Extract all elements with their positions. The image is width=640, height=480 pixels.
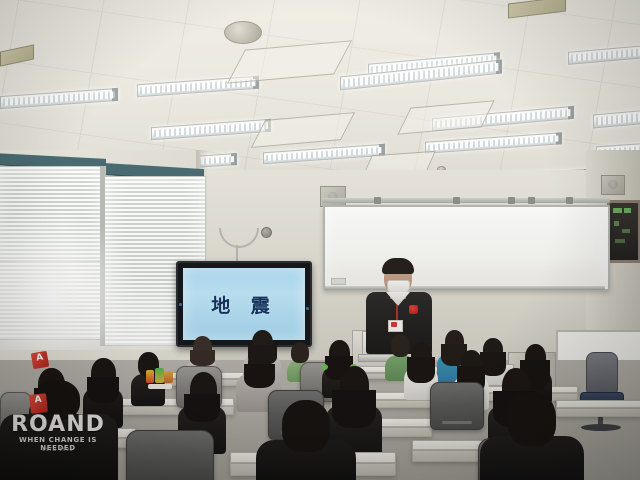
empty-chair-back[interactable] <box>586 352 618 394</box>
hoodie-subline-text: ESTD 1995 <box>14 447 102 452</box>
student <box>256 400 356 480</box>
lanyard <box>396 305 398 321</box>
wall-speaker-icon <box>320 186 346 207</box>
hoodie-badge-text: A <box>29 393 47 406</box>
chair[interactable] <box>126 430 214 480</box>
hoodie-brand-text: ROAND <box>6 412 110 437</box>
face-mask-icon <box>387 280 410 294</box>
wall-sensor-icon <box>261 227 272 238</box>
chest-badge-icon <box>409 305 418 314</box>
whiteboard-label <box>331 278 346 285</box>
window-mullion <box>100 166 105 346</box>
shirt-graphic-print <box>146 368 174 390</box>
slide-title-text: 地 震 <box>211 291 277 318</box>
wall-hook-stem <box>236 245 238 262</box>
paper-badge: A <box>31 351 50 370</box>
hoodie-badge: A <box>29 393 48 414</box>
chair[interactable] <box>430 382 484 430</box>
wall-speaker-icon <box>601 175 625 195</box>
student <box>480 392 584 480</box>
classroom-photo: 地 震 <box>0 0 640 480</box>
window-rail <box>0 260 104 262</box>
ceiling-speaker-icon <box>224 21 262 44</box>
empty-chair-base <box>581 424 621 431</box>
digital-display-panel[interactable] <box>607 200 640 263</box>
window-blind-left[interactable] <box>0 166 106 340</box>
paper-badge-text: A <box>31 351 49 365</box>
presenter-hair <box>382 258 414 274</box>
whiteboard-rail <box>322 198 610 203</box>
